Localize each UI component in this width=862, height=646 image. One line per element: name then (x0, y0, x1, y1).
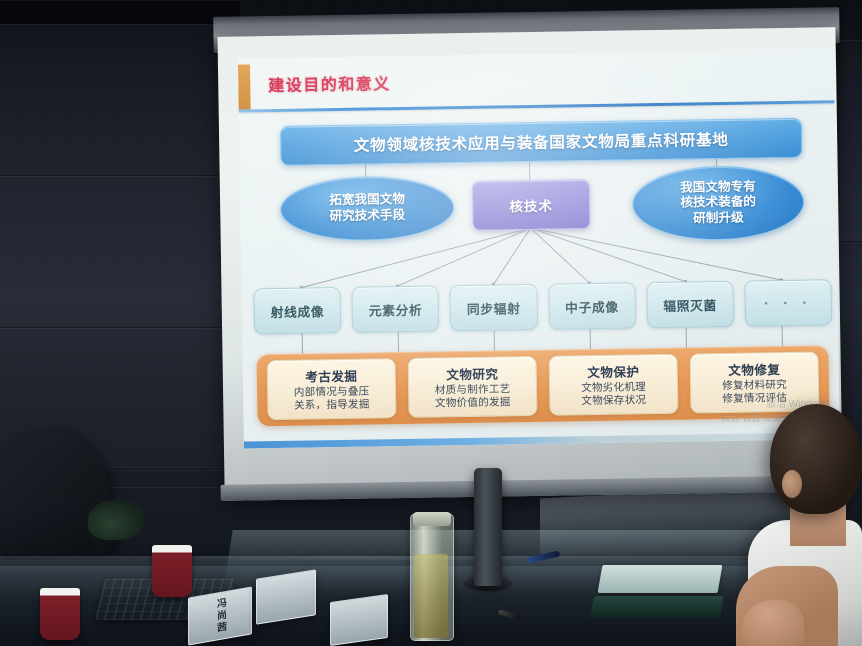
card-title: 文物保护 (587, 361, 639, 381)
card-line: 关系，指导发掘 (294, 399, 370, 413)
technique-label: 同步辐射 (467, 298, 521, 318)
paper-cup-center (152, 545, 192, 597)
paper-cup-left (40, 588, 80, 640)
technique-label: 射线成像 (270, 301, 324, 321)
name-placard-3 (330, 594, 388, 646)
card-line: 材质与制作工艺 (435, 383, 511, 397)
glass-tea-thermos (410, 513, 454, 641)
technique-row: 射线成像 元素分析 同步辐射 中子成像 辐照灭菌 · · · (253, 279, 832, 334)
node-label: 核技术 (509, 195, 553, 216)
technique-label: 辐照灭菌 (663, 295, 717, 315)
wall-panel-left-1 (0, 24, 240, 176)
wall-panel-right (840, 40, 862, 242)
wall-panel-left-2 (0, 176, 240, 328)
node-broaden-research-methods: 拓宽我国文物研究技术手段 (280, 175, 455, 242)
attendee-hand (742, 600, 804, 646)
application-card-relic-protection: 文物保护 文物劣化机理 文物保存状况 (549, 354, 679, 416)
card-line: 文物价值的发掘 (435, 396, 511, 410)
attendee-head (770, 404, 862, 514)
technique-pill-ellipsis: · · · (744, 279, 832, 326)
plant (88, 500, 144, 540)
conference-room-photo: 建设目的和意义 (0, 0, 862, 646)
node-dedicated-equipment-upgrade: 我国文物专有核技术装备的研制升级 (632, 165, 805, 242)
card-line: 内部情况与叠压 (294, 386, 370, 400)
notepad (590, 596, 724, 618)
slide-banner-label: 文物领域核技术应用与装备国家文物局重点科研基地 (354, 128, 729, 156)
card-title: 考古发掘 (305, 366, 357, 386)
node-label: 我国文物专有核技术装备的研制升级 (680, 179, 756, 227)
card-line: 修复材料研究 (722, 379, 787, 393)
node-nuclear-technology: 核技术 (472, 179, 591, 231)
application-card-archaeology: 考古发掘 内部情况与叠压 关系，指导发掘 (267, 358, 397, 420)
title-accent-bar (238, 64, 251, 110)
notebook (598, 565, 723, 593)
slide-footer-bar (244, 432, 840, 448)
screen-surface: 建设目的和意义 (218, 27, 843, 501)
technique-label: 元素分析 (369, 299, 423, 319)
technique-pill-neutron-imaging: 中子成像 (548, 282, 636, 329)
projection-screen: 建设目的和意义 (213, 7, 847, 507)
title-divider-rule (239, 100, 835, 112)
technique-label: · · · (764, 294, 813, 312)
name-placard-2 (256, 569, 316, 625)
wall-panel-top (0, 0, 240, 24)
card-title: 文物修复 (728, 359, 780, 379)
presentation-slide: 建设目的和意义 (238, 49, 840, 448)
application-card-relic-research: 文物研究 材质与制作工艺 文物价值的发掘 (408, 356, 538, 418)
slide-title: 建设目的和意义 (268, 70, 391, 96)
slide-banner-node: 文物领域核技术应用与装备国家文物局重点科研基地 (280, 118, 803, 166)
conference-microphone (474, 468, 502, 586)
thermos-cap (413, 512, 451, 526)
technique-pill-synchrotron-radiation: 同步辐射 (450, 284, 538, 331)
placard-name: 冯尚茜 (213, 597, 228, 636)
attendee-ear (782, 470, 802, 498)
card-line: 文物劣化机理 (581, 381, 646, 395)
node-label: 拓宽我国文物研究技术手段 (329, 192, 405, 224)
tea-liquid (414, 554, 448, 638)
technique-pill-element-analysis: 元素分析 (352, 285, 440, 332)
technique-pill-ray-imaging: 射线成像 (253, 287, 341, 334)
card-title: 文物研究 (446, 364, 498, 384)
technique-pill-irradiation-sterilization: 辐照灭菌 (646, 281, 734, 328)
card-line: 文物保存状况 (581, 394, 646, 408)
technique-label: 中子成像 (565, 296, 619, 316)
